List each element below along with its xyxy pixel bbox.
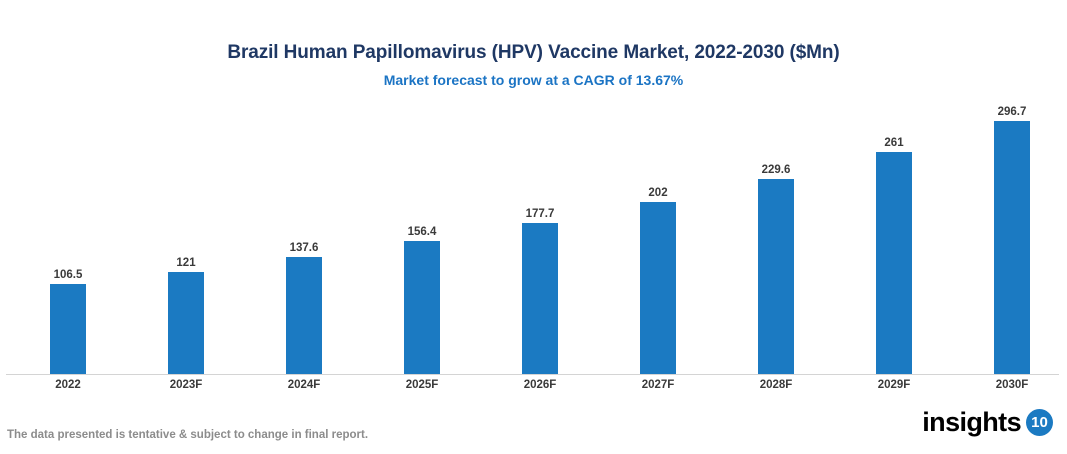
- x-axis-tick-label: 2023F: [127, 379, 245, 391]
- bar-value-label: 121: [176, 257, 195, 269]
- bar-group: 229.6: [717, 110, 835, 375]
- bar-value-label: 229.6: [762, 164, 791, 176]
- bar-value-label: 202: [648, 187, 667, 199]
- x-axis-tick-label: 2029F: [835, 379, 953, 391]
- bar[interactable]: [640, 202, 676, 375]
- bar[interactable]: [876, 152, 912, 375]
- bar[interactable]: [522, 223, 558, 375]
- chart-title: Brazil Human Papillomavirus (HPV) Vaccin…: [0, 42, 1067, 64]
- x-axis-tick-label: 2026F: [481, 379, 599, 391]
- bar-value-label: 261: [884, 137, 903, 149]
- bar[interactable]: [404, 241, 440, 375]
- x-axis-tick-label: 2027F: [599, 379, 717, 391]
- x-axis-tick-label: 2022: [9, 379, 127, 391]
- bar[interactable]: [758, 179, 794, 375]
- bar-group: 106.5: [9, 110, 127, 375]
- bar[interactable]: [168, 272, 204, 375]
- logo-badge-icon: 10: [1026, 409, 1053, 436]
- x-axis-line: [6, 374, 1059, 375]
- bar-value-label: 156.4: [408, 226, 437, 238]
- plot-area: 106.5121137.6156.4177.7202229.6261296.7: [6, 110, 1061, 375]
- bar-group: 202: [599, 110, 717, 375]
- bar-group: 137.6: [245, 110, 363, 375]
- chart-page: Brazil Human Papillomavirus (HPV) Vaccin…: [0, 0, 1067, 454]
- x-axis-tick-label: 2028F: [717, 379, 835, 391]
- bar-value-label: 137.6: [290, 242, 319, 254]
- x-axis-labels: 20222023F2024F2025F2026F2027F2028F2029F2…: [6, 379, 1061, 399]
- x-axis-tick-label: 2025F: [363, 379, 481, 391]
- bar-group: 261: [835, 110, 953, 375]
- chart-subtitle: Market forecast to grow at a CAGR of 13.…: [0, 72, 1067, 88]
- bar-value-label: 177.7: [526, 208, 555, 220]
- bar[interactable]: [286, 257, 322, 375]
- x-axis-tick-label: 2024F: [245, 379, 363, 391]
- disclaimer-text: The data presented is tentative & subjec…: [7, 429, 368, 441]
- bar-group: 296.7: [953, 110, 1067, 375]
- bar-group: 177.7: [481, 110, 599, 375]
- bar-value-label: 296.7: [998, 106, 1027, 118]
- bar-group: 156.4: [363, 110, 481, 375]
- logo-wordmark: insights: [922, 409, 1021, 436]
- bar[interactable]: [994, 121, 1030, 375]
- bar-value-label: 106.5: [54, 269, 83, 281]
- bar-group: 121: [127, 110, 245, 375]
- insights10-logo: insights 10: [922, 405, 1053, 439]
- x-axis-tick-label: 2030F: [953, 379, 1067, 391]
- bar[interactable]: [50, 284, 86, 375]
